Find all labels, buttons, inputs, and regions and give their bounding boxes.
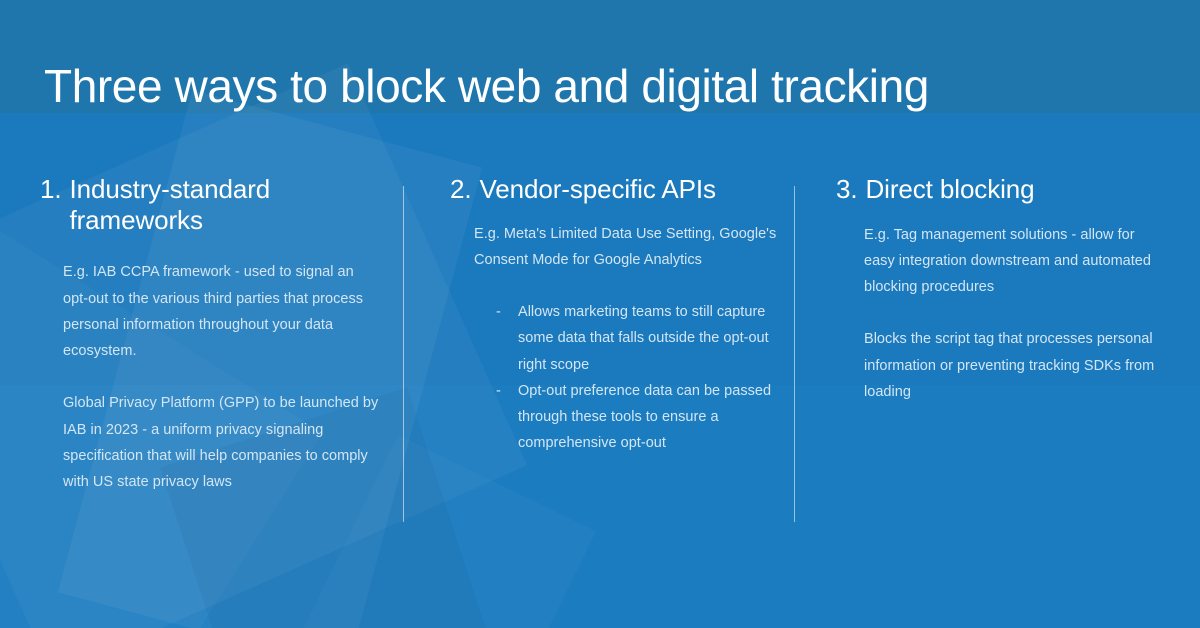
list-item: - Opt-out preference data can be passed … xyxy=(496,378,794,457)
column-industry-standard-frameworks: 1. Industry-standard frameworks E.g. IAB… xyxy=(40,174,380,495)
column-2-bullet-list: - Allows marketing teams to still captur… xyxy=(496,299,794,456)
column-3-title: Direct blocking xyxy=(865,174,1156,205)
bullet-text: Opt-out preference data can be passed th… xyxy=(518,383,771,451)
column-2-paragraph-1: E.g. Meta's Limited Data Use Setting, Go… xyxy=(474,221,794,273)
column-vendor-specific-apis: 2. Vendor-specific APIs E.g. Meta's Limi… xyxy=(450,174,790,471)
slide-canvas: Three ways to block web and digital trac… xyxy=(0,0,1200,628)
column-2-heading: 2. Vendor-specific APIs xyxy=(450,174,790,205)
column-2-title: Vendor-specific APIs xyxy=(479,174,790,205)
column-1-paragraph-2: Global Privacy Platform (GPP) to be laun… xyxy=(63,390,381,495)
column-direct-blocking: 3. Direct blocking E.g. Tag management s… xyxy=(836,174,1156,405)
bullet-dash-icon: - xyxy=(496,299,501,325)
column-3-paragraph-1: E.g. Tag management solutions - allow fo… xyxy=(864,222,1160,301)
column-3-paragraph-2: Blocks the script tag that processes per… xyxy=(864,326,1160,405)
list-item: - Allows marketing teams to still captur… xyxy=(496,299,794,378)
column-1-title: Industry-standard frameworks xyxy=(69,174,380,235)
column-2-number: 2. xyxy=(450,174,471,205)
bullet-text: Allows marketing teams to still capture … xyxy=(518,304,769,372)
bullet-dash-icon: - xyxy=(496,378,501,404)
slide-title: Three ways to block web and digital trac… xyxy=(44,61,929,112)
column-2-body: E.g. Meta's Limited Data Use Setting, Go… xyxy=(474,221,794,457)
column-3-heading: 3. Direct blocking xyxy=(836,174,1156,205)
column-1-body: E.g. IAB CCPA framework - used to signal… xyxy=(63,259,381,495)
columns-container: 1. Industry-standard frameworks E.g. IAB… xyxy=(0,174,1200,534)
column-1-paragraph-1: E.g. IAB CCPA framework - used to signal… xyxy=(63,259,381,364)
column-3-body: E.g. Tag management solutions - allow fo… xyxy=(864,222,1160,405)
column-1-number: 1. xyxy=(40,174,61,205)
column-1-heading: 1. Industry-standard frameworks xyxy=(40,174,380,235)
column-3-number: 3. xyxy=(836,174,857,205)
